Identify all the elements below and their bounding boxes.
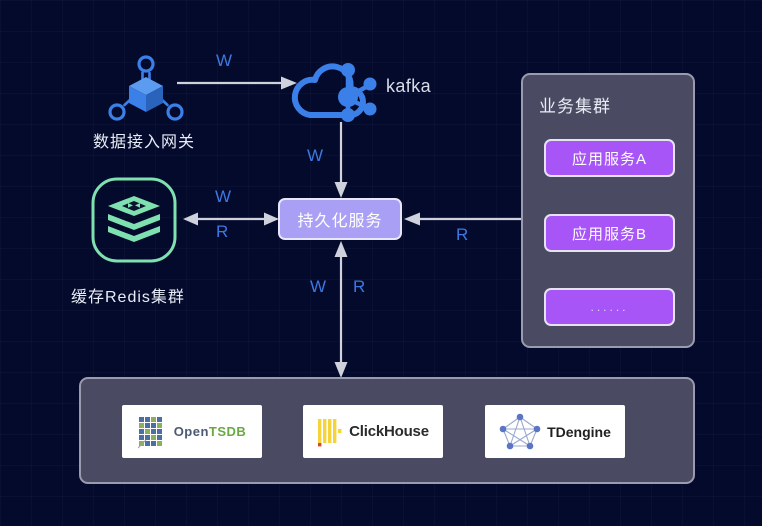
tdengine-text: TDengine [547, 424, 611, 440]
app-service-a-label: 应用服务A [572, 148, 647, 169]
kafka-cloud-icon [288, 53, 378, 121]
edge-gateway-to-kafka [177, 72, 297, 94]
business-cluster-title: 业务集群 [539, 92, 611, 117]
app-service-b-button[interactable]: 应用服务B [544, 214, 675, 252]
edge-label-storage-w: W [310, 277, 326, 297]
edge-redis-persistence [183, 208, 279, 230]
app-service-a-button[interactable]: 应用服务A [544, 139, 675, 177]
clickhouse-logo-card[interactable]: ClickHouse [303, 405, 443, 458]
redis-stack-icon [90, 176, 178, 264]
edge-label-gateway-kafka: W [216, 51, 232, 71]
storage-cluster-panel: OpenTSDB ClickHouse [79, 377, 695, 484]
tdengine-pentagon-icon [499, 413, 541, 451]
edge-label-redis-r: R [216, 222, 228, 242]
app-service-more-label: ...... [590, 300, 628, 314]
opentsdb-text-tsdb: TSDB [209, 424, 246, 439]
redis-label: 缓存Redis集群 [71, 283, 185, 307]
kafka-label: kafka [386, 76, 431, 97]
opentsdb-text-open: Open [174, 424, 209, 439]
edge-kafka-to-persistence [330, 122, 352, 198]
clickhouse-bars-icon [317, 417, 343, 447]
clickhouse-text: ClickHouse [349, 423, 429, 440]
edge-label-business-r: R [456, 225, 468, 245]
edge-label-redis-w: W [215, 187, 231, 207]
architecture-diagram-canvas: 数据接入网关 W kafka [0, 0, 762, 526]
edge-label-kafka-persistence: W [307, 146, 323, 166]
opentsdb-grid-icon [138, 416, 168, 448]
persistence-service-node[interactable]: 持久化服务 [278, 198, 402, 240]
edge-label-storage-r: R [353, 277, 365, 297]
data-gateway-icon [108, 55, 184, 123]
business-cluster-panel: 业务集群 应用服务A 应用服务B ...... [521, 73, 695, 348]
gateway-label: 数据接入网关 [93, 128, 195, 152]
opentsdb-logo-card[interactable]: OpenTSDB [122, 405, 262, 458]
tdengine-logo-card[interactable]: TDengine [485, 405, 625, 458]
persistence-service-label: 持久化服务 [297, 207, 382, 231]
edge-persistence-storage [330, 241, 352, 378]
app-service-b-label: 应用服务B [572, 223, 647, 244]
app-service-more-button[interactable]: ...... [544, 288, 675, 326]
